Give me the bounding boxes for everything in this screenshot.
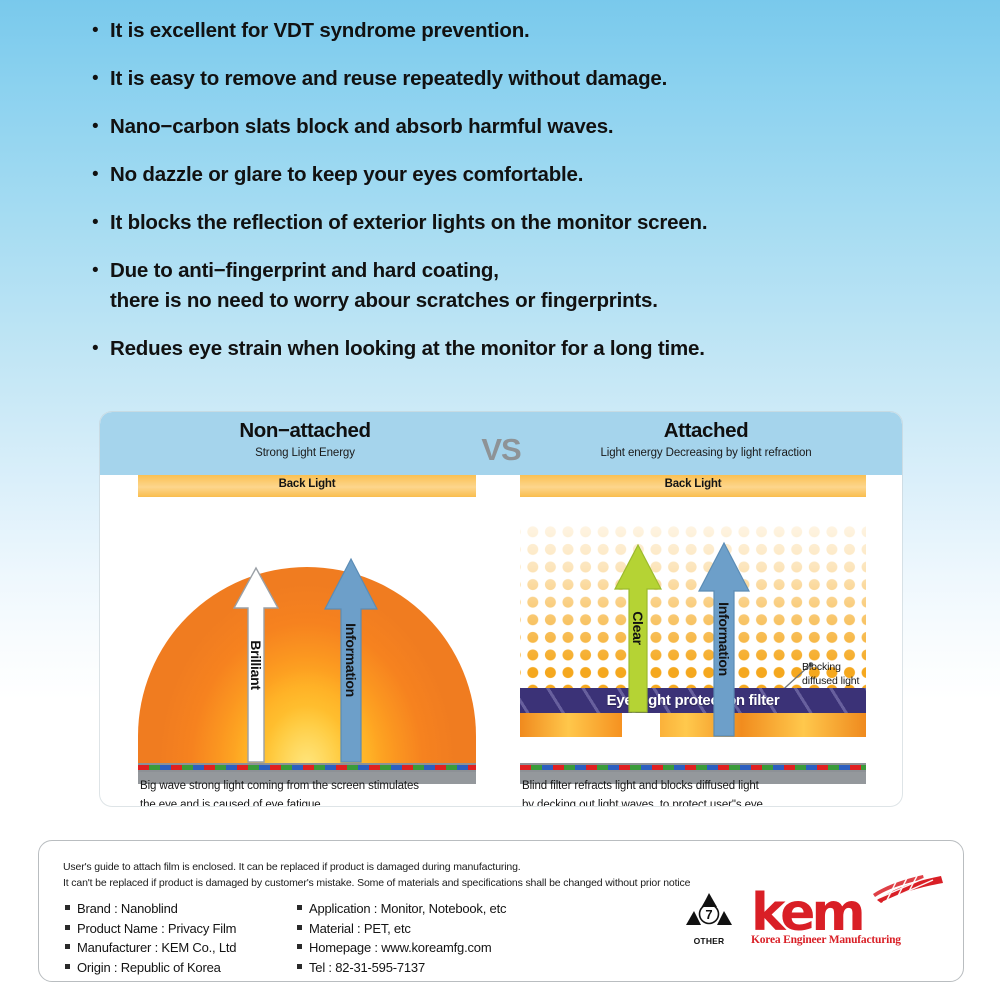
arrow-brilliant: Brilliant bbox=[233, 566, 279, 763]
recycle-icon: 7 bbox=[683, 889, 735, 935]
arrow-information: Information bbox=[698, 541, 750, 737]
arrow-clear: Clear bbox=[614, 543, 662, 713]
square-bullet-icon bbox=[65, 925, 70, 930]
panel-subtitle: Light energy Decreasing by light refract… bbox=[510, 447, 902, 459]
spec-text: Origin : Republic of Korea bbox=[77, 958, 221, 978]
spec-text: Tel : 82-31-595-7137 bbox=[309, 958, 425, 978]
bullet-icon: • bbox=[92, 64, 110, 94]
light-gap bbox=[622, 713, 660, 737]
eye-sight-protection-filter-band: Eye sight protection filter bbox=[520, 688, 866, 714]
panel-title: Attached bbox=[510, 419, 902, 443]
recycling-mark: 7 OTHER bbox=[683, 889, 735, 946]
spec-text: Product Name : Privacy Film bbox=[77, 919, 236, 939]
blocking-diffused-light-note: Blocking diffused light bbox=[802, 660, 898, 688]
list-item: Origin : Republic of Korea bbox=[65, 958, 236, 978]
spec-column-left: Brand : Nanoblind Product Name : Privacy… bbox=[65, 899, 236, 977]
recycle-label: OTHER bbox=[683, 936, 735, 946]
list-item: • It is easy to remove and reuse repeate… bbox=[92, 64, 912, 94]
panel-attached: Blocking diffused light Eye sight protec… bbox=[512, 475, 874, 806]
feature-text: It blocks the reflection of exterior lig… bbox=[110, 208, 707, 238]
backlight-label: Back Light bbox=[520, 478, 866, 490]
square-bullet-icon bbox=[297, 905, 302, 910]
arrow-label: Information bbox=[716, 602, 732, 676]
list-item: • It is excellent for VDT syndrome preve… bbox=[92, 16, 912, 46]
caption-non-attached: Big wave strong light coming from the sc… bbox=[140, 777, 490, 806]
panel-title: Non−attached bbox=[100, 419, 510, 443]
feature-text: Nano−carbon slats block and absorb harmf… bbox=[110, 112, 613, 142]
bullet-icon: • bbox=[92, 208, 110, 238]
list-item: Material : PET, etc bbox=[297, 919, 506, 939]
spec-text: Brand : Nanoblind bbox=[77, 899, 178, 919]
feature-text: Redues eye strain when looking at the mo… bbox=[110, 334, 705, 364]
caption-attached: Blind filter refracts light and blocks d… bbox=[522, 777, 892, 806]
arrow-label: Information bbox=[343, 623, 359, 697]
arrow-information: Information bbox=[324, 557, 378, 763]
arrow-label: Brilliant bbox=[248, 640, 264, 689]
header-column-attached: Attached Light energy Decreasing by ligh… bbox=[510, 412, 902, 475]
comparison-header: Non−attached Strong Light Energy Attache… bbox=[100, 412, 902, 475]
bullet-icon: • bbox=[92, 256, 110, 286]
spec-text: Manufacturer : KEM Co., Ltd bbox=[77, 938, 236, 958]
square-bullet-icon bbox=[65, 944, 70, 949]
feature-text: No dazzle or glare to keep your eyes com… bbox=[110, 160, 583, 190]
square-bullet-icon bbox=[65, 905, 70, 910]
rgb-pixel-layer bbox=[138, 763, 476, 772]
rgb-pixel-layer bbox=[520, 763, 866, 772]
arrow-label: Clear bbox=[630, 611, 646, 645]
page-background: • It is excellent for VDT syndrome preve… bbox=[0, 0, 1000, 1000]
feature-text: It is excellent for VDT syndrome prevent… bbox=[110, 16, 530, 46]
spec-column-right: Application : Monitor, Notebook, etc Mat… bbox=[297, 899, 506, 977]
filter-label: Eye sight protection filter bbox=[520, 692, 866, 709]
list-item: Brand : Nanoblind bbox=[65, 899, 236, 919]
feature-text: Due to anti−fingerprint and hard coating… bbox=[110, 256, 658, 316]
square-bullet-icon bbox=[297, 925, 302, 930]
header-column-non-attached: Non−attached Strong Light Energy bbox=[100, 412, 510, 475]
brand-tagline: Korea Engineer Manufacturing bbox=[751, 934, 941, 946]
list-item: Product Name : Privacy Film bbox=[65, 919, 236, 939]
feature-list: • It is excellent for VDT syndrome preve… bbox=[92, 16, 912, 382]
list-item: Tel : 82-31-595-7137 bbox=[297, 958, 506, 978]
replacement-notice: User's guide to attach film is enclosed.… bbox=[63, 859, 803, 891]
strong-light-glow-dome bbox=[138, 567, 476, 763]
list-item: • Due to anti−fingerprint and hard coati… bbox=[92, 256, 912, 316]
swoosh-icon bbox=[871, 874, 945, 904]
spec-text[interactable]: Homepage : www.koreamfg.com bbox=[309, 938, 491, 958]
bullet-icon: • bbox=[92, 112, 110, 142]
vs-label: VS bbox=[461, 432, 541, 468]
logo-block: 7 OTHER bbox=[683, 889, 941, 946]
comparison-body: Brilliant Information Back Lig bbox=[100, 475, 902, 806]
list-item: Application : Monitor, Notebook, etc bbox=[297, 899, 506, 919]
bullet-icon: • bbox=[92, 16, 110, 46]
list-item: Manufacturer : KEM Co., Ltd bbox=[65, 938, 236, 958]
list-item: Homepage : www.koreamfg.com bbox=[297, 938, 506, 958]
list-item: • Redues eye strain when looking at the … bbox=[92, 334, 912, 364]
spec-text: Material : PET, etc bbox=[309, 919, 411, 939]
backlight-layer: Back Light bbox=[138, 475, 476, 497]
specification-box: User's guide to attach film is enclosed.… bbox=[38, 840, 964, 982]
list-item: • It blocks the reflection of exterior l… bbox=[92, 208, 912, 238]
square-bullet-icon bbox=[65, 964, 70, 969]
light-emission-layer bbox=[520, 713, 866, 737]
kem-logo: kem Korea Engineer Manufacturing bbox=[751, 890, 941, 946]
bullet-icon: • bbox=[92, 160, 110, 190]
bullet-icon: • bbox=[92, 334, 110, 364]
svg-text:7: 7 bbox=[705, 907, 712, 922]
comparison-diagram-card: Non−attached Strong Light Energy Attache… bbox=[100, 412, 902, 806]
backlight-label: Back Light bbox=[138, 478, 476, 490]
panel-subtitle: Strong Light Energy bbox=[100, 447, 510, 459]
list-item: • Nano−carbon slats block and absorb har… bbox=[92, 112, 912, 142]
square-bullet-icon bbox=[297, 944, 302, 949]
feature-text: It is easy to remove and reuse repeatedl… bbox=[110, 64, 667, 94]
square-bullet-icon bbox=[297, 964, 302, 969]
panel-non-attached: Brilliant Information Back Lig bbox=[128, 475, 486, 806]
list-item: • No dazzle or glare to keep your eyes c… bbox=[92, 160, 912, 190]
backlight-layer: Back Light bbox=[520, 475, 866, 497]
spec-text: Application : Monitor, Notebook, etc bbox=[309, 899, 506, 919]
